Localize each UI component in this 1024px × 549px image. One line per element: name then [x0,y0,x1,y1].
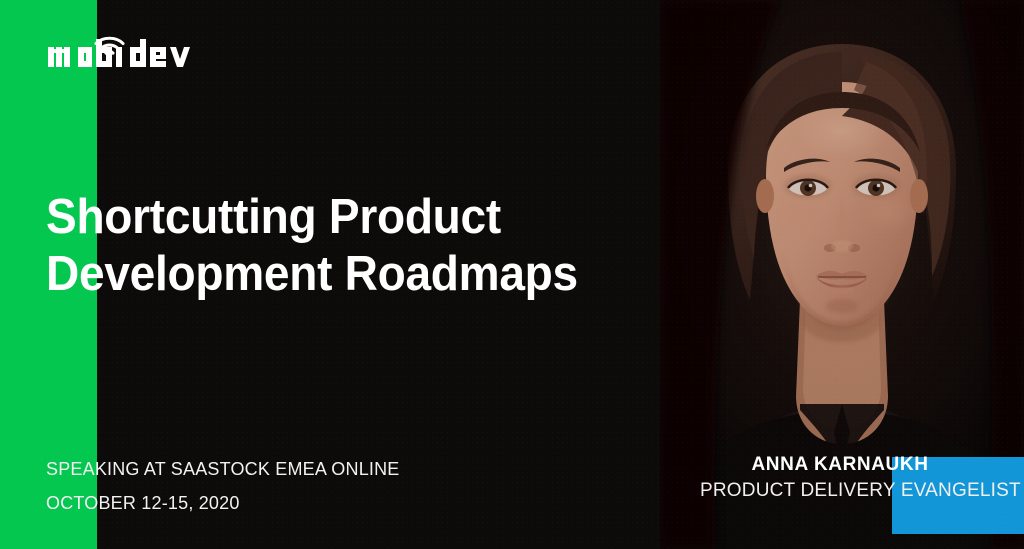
headline-line-1: Shortcutting Product [46,189,648,246]
headline-line-2: Development Roadmaps [46,246,648,303]
mobidev-wordmark [48,39,190,67]
speaker-role: PRODUCT DELIVERY EVANGELIST [700,477,980,505]
event-name: SPEAKING AT SAASTOCK EMEA ONLINE [46,452,400,486]
promo-banner: Shortcutting Product Development Roadmap… [0,0,1024,549]
speaker-caption: ANNA KARNAUKH PRODUCT DELIVERY EVANGELIS… [700,452,980,505]
event-details: SPEAKING AT SAASTOCK EMEA ONLINE OCTOBER… [46,452,400,520]
page-title: Shortcutting Product Development Roadmap… [46,189,648,303]
event-date: OCTOBER 12-15, 2020 [46,486,400,520]
speaker-name: ANNA KARNAUKH [700,452,980,477]
mobidev-logo[interactable] [46,27,206,75]
